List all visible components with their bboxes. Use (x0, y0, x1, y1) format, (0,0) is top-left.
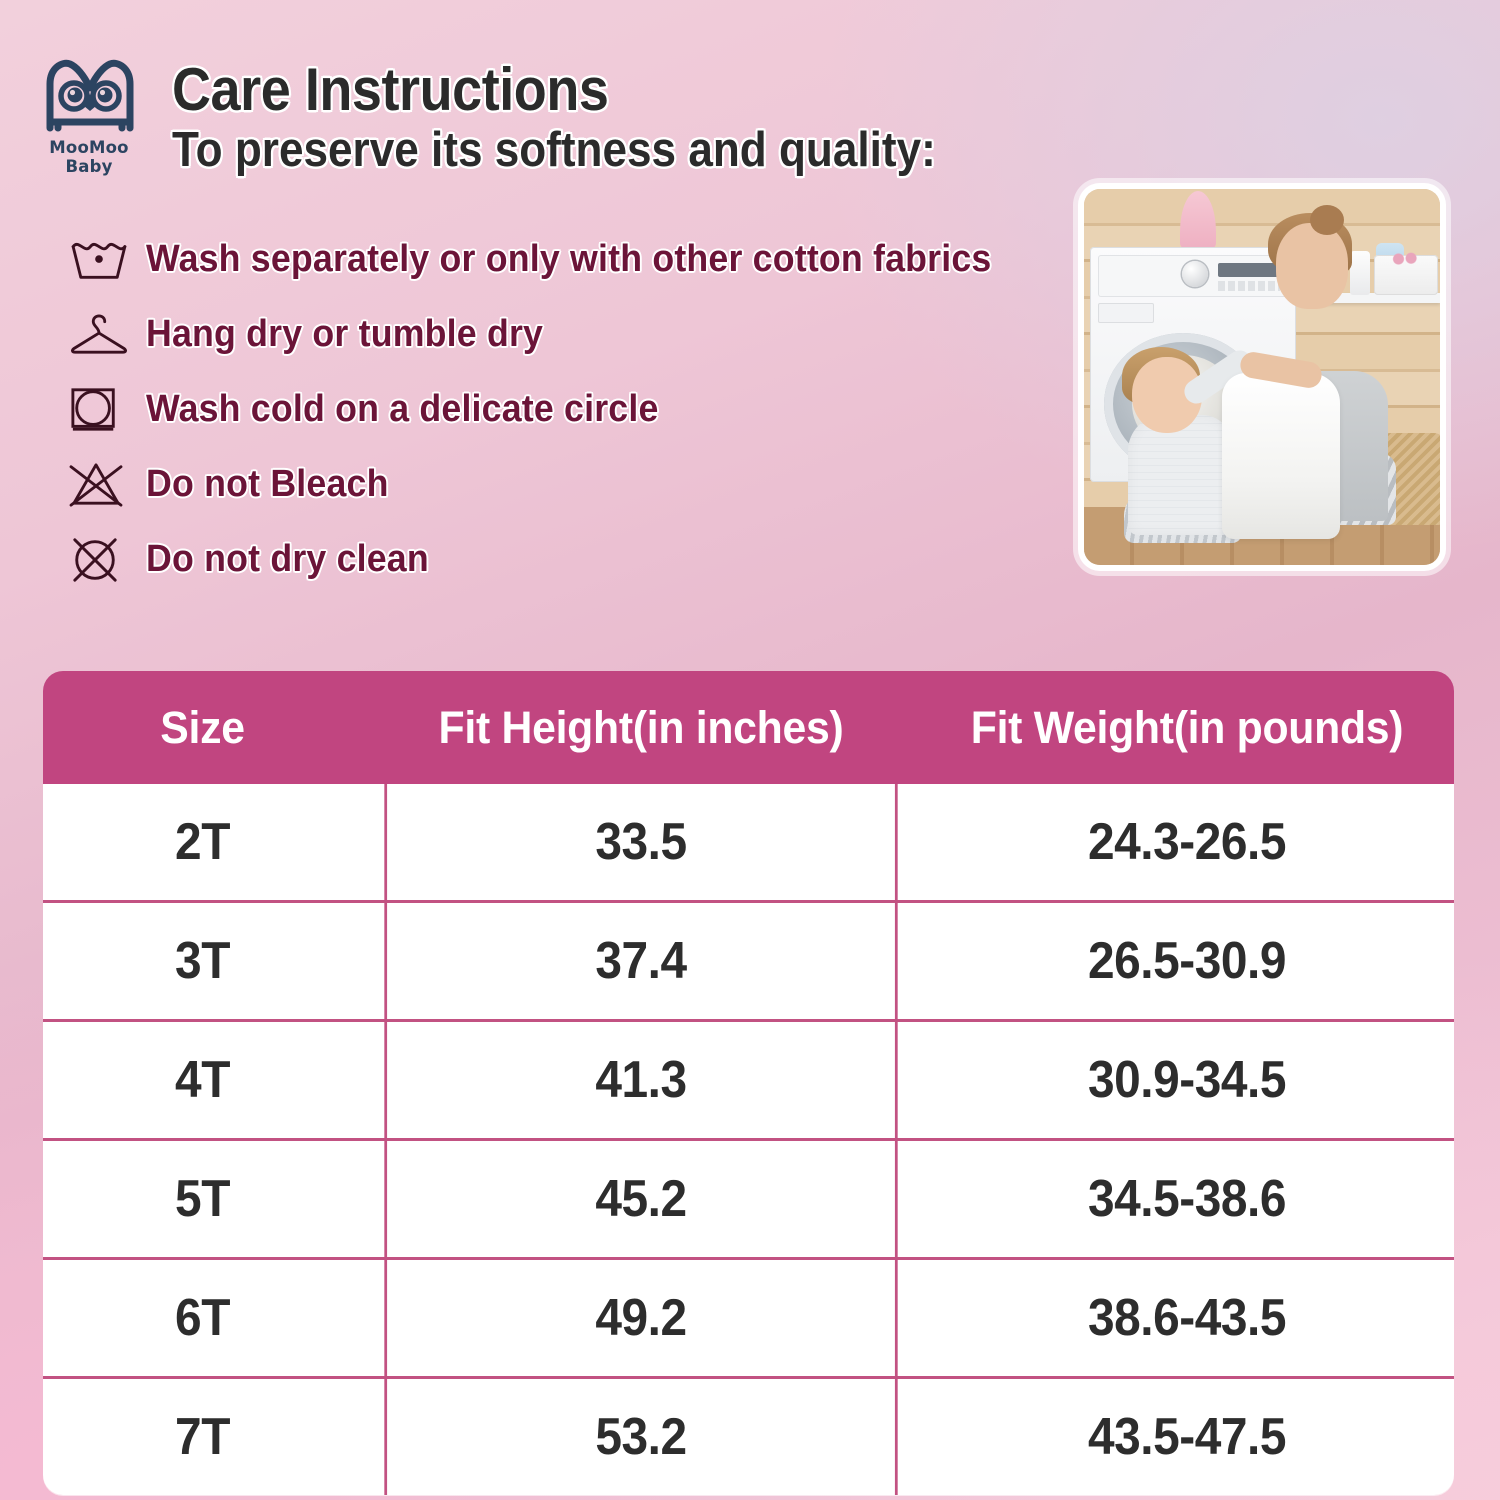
column-header-fit-height: Fit Height(in inches) (376, 671, 906, 784)
cell-size: 4T (56, 1022, 349, 1138)
mother-hair-bun (1310, 205, 1344, 235)
washer-buttons (1218, 281, 1280, 291)
table-row: 7T 53.2 43.5-47.5 (43, 1376, 1454, 1495)
table-row: 3T 37.4 26.5-30.9 (43, 900, 1454, 1019)
cell-size: 3T (56, 903, 349, 1019)
size-chart-table: Size Fit Height(in inches) Fit Weight(in… (43, 671, 1454, 1495)
white-towel (1222, 373, 1340, 539)
tumble-dry-icon (60, 385, 146, 435)
wash-basin-icon (60, 237, 146, 283)
no-dry-clean-icon (60, 535, 146, 585)
care-item: Wash cold on a delicate circle (60, 372, 1080, 447)
cell-weight: 26.5-30.9 (941, 903, 1432, 1019)
washer-dial (1182, 261, 1208, 287)
care-instructions-page: MooMoo Baby Care Instructions To preserv… (0, 0, 1500, 1500)
table-header-row: Size Fit Height(in inches) Fit Weight(in… (43, 671, 1454, 784)
cell-height: 53.2 (384, 1379, 897, 1495)
cell-size: 2T (56, 784, 349, 900)
cell-height: 45.2 (384, 1141, 897, 1257)
cell-height: 37.4 (384, 903, 897, 1019)
cell-height: 49.2 (384, 1260, 897, 1376)
care-item-label: Do not Bleach (146, 463, 389, 506)
care-item-label: Wash separately or only with other cotto… (146, 238, 991, 281)
brand-logo: MooMoo Baby (24, 56, 154, 176)
mother-head (1276, 223, 1348, 309)
cell-height: 41.3 (384, 1022, 897, 1138)
owl-logo-icon (44, 56, 136, 134)
column-header-size: Size (51, 671, 354, 784)
header-text-block: Care Instructions To preserve its softne… (172, 60, 1072, 175)
care-item: Hang dry or tumble dry (60, 297, 1080, 372)
table-row: 2T 33.5 24.3-26.5 (43, 784, 1454, 900)
brand-name: MooMoo Baby (24, 138, 154, 176)
page-title: Care Instructions (172, 60, 982, 120)
table-row: 5T 45.2 34.5-38.6 (43, 1138, 1454, 1257)
column-header-fit-weight: Fit Weight(in pounds) (933, 671, 1440, 784)
no-bleach-icon (60, 461, 146, 509)
cell-weight: 38.6-43.5 (941, 1260, 1432, 1376)
cell-size: 5T (56, 1141, 349, 1257)
cell-size: 6T (56, 1260, 349, 1376)
table-row: 6T 49.2 38.6-43.5 (43, 1257, 1454, 1376)
care-item-label: Do not dry clean (146, 538, 429, 581)
cell-weight: 24.3-26.5 (941, 784, 1432, 900)
care-item: Do not Bleach (60, 447, 1080, 522)
table-row: 4T 41.3 30.9-34.5 (43, 1019, 1454, 1138)
hanger-icon (60, 314, 146, 356)
child-body (1128, 415, 1232, 535)
mother-and-child-laundry-photo (1078, 183, 1446, 571)
detergent-bottle-white (1350, 251, 1370, 295)
cell-weight: 30.9-34.5 (941, 1022, 1432, 1138)
photo-content (1084, 189, 1440, 565)
cell-size: 7T (56, 1379, 349, 1495)
care-instructions-list: Wash separately or only with other cotto… (60, 222, 1080, 597)
cell-height: 33.5 (384, 784, 897, 900)
cell-weight: 43.5-47.5 (941, 1379, 1432, 1495)
washer-display (1218, 263, 1278, 277)
care-item: Wash separately or only with other cotto… (60, 222, 1080, 297)
care-item-label: Wash cold on a delicate circle (146, 388, 659, 431)
table-body: 2T 33.5 24.3-26.5 3T 37.4 26.5-30.9 4T 4… (43, 784, 1454, 1495)
cell-weight: 34.5-38.6 (941, 1141, 1432, 1257)
care-item: Do not dry clean (60, 522, 1080, 597)
care-item-label: Hang dry or tumble dry (146, 313, 543, 356)
page-subtitle: To preserve its softness and quality: (172, 126, 982, 175)
detergent-drawer (1098, 303, 1154, 323)
basket-flowers (1390, 251, 1424, 267)
